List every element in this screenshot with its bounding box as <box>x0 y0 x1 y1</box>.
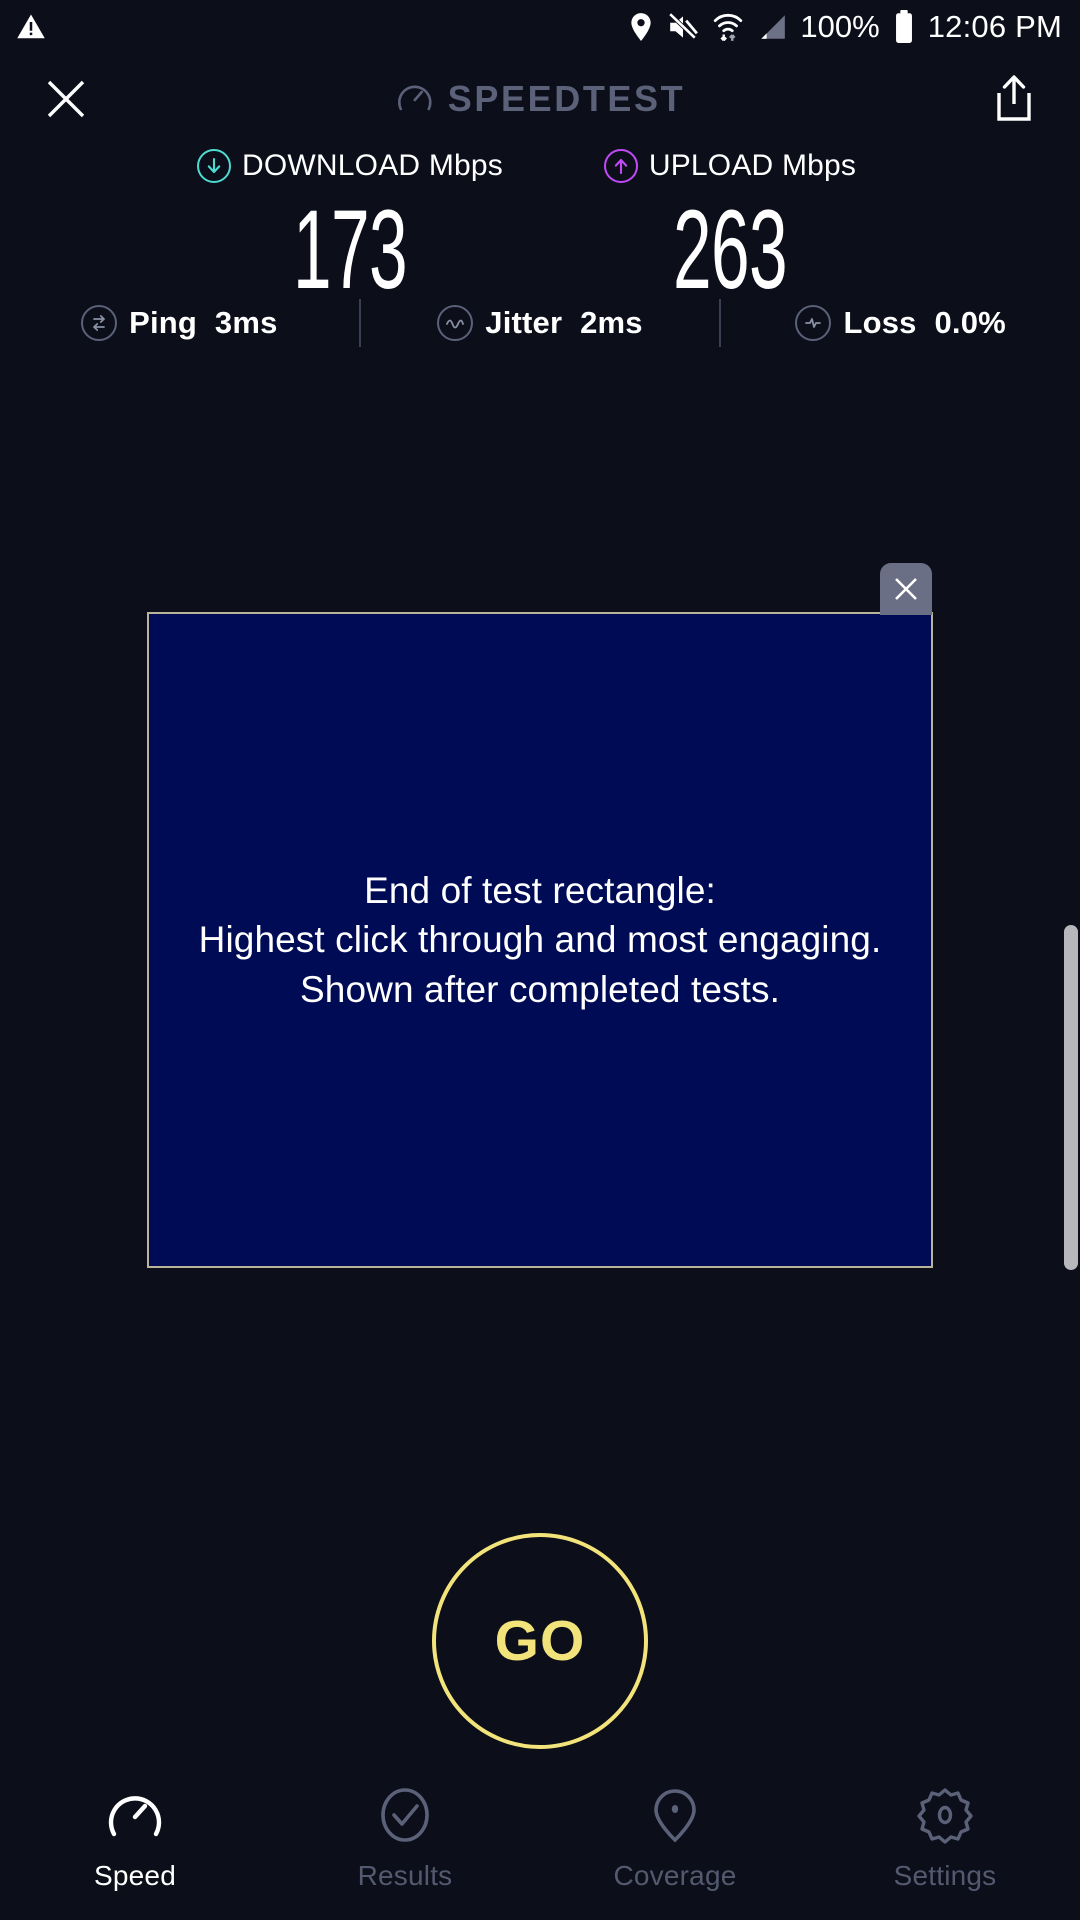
nav-label-coverage: Coverage <box>613 1860 736 1892</box>
download-label: DOWNLOAD Mbps <box>242 149 503 183</box>
jitter-icon <box>437 305 473 341</box>
volume-muted-icon <box>667 12 699 42</box>
stat-jitter: Jitter 2ms <box>361 305 720 341</box>
download-header: DOWNLOAD Mbps <box>160 144 540 188</box>
stat-ping-text: Ping 3ms <box>129 305 277 341</box>
battery-full-icon <box>893 10 915 44</box>
warning-triangle-icon <box>16 12 46 42</box>
loss-icon <box>795 305 831 341</box>
stat-ping-name: Ping <box>129 305 197 340</box>
gear-icon <box>914 1782 976 1848</box>
speedometer-icon <box>395 79 435 119</box>
page-scrollbar[interactable] <box>1064 925 1078 1270</box>
ad-close-button[interactable] <box>880 563 932 615</box>
stat-loss-name: Loss <box>843 305 916 340</box>
cellular-signal-icon <box>757 13 787 41</box>
stat-loss: Loss 0.0% <box>721 305 1080 341</box>
close-button[interactable] <box>36 69 96 129</box>
stat-ping-value: 3ms <box>215 305 278 340</box>
status-bar-right: 100% 12:06 PM <box>628 9 1062 45</box>
status-bar-left <box>16 12 46 42</box>
location-pin-icon <box>644 1782 706 1848</box>
download-upload-row: DOWNLOAD Mbps 173 UPLOAD Mbps <box>0 144 1080 301</box>
app-header: SPEEDTEST <box>0 54 1080 144</box>
speedometer-icon <box>104 1782 166 1848</box>
nav-item-speed[interactable]: Speed <box>0 1782 270 1892</box>
upload-label: UPLOAD Mbps <box>649 149 856 183</box>
share-upload-icon <box>991 74 1037 124</box>
battery-percent-label: 100% <box>800 9 879 45</box>
stat-ping: Ping 3ms <box>0 305 359 341</box>
download-metric: DOWNLOAD Mbps 173 <box>160 144 540 301</box>
close-icon <box>891 574 921 604</box>
arrow-up-circle-icon <box>604 149 638 183</box>
location-pin-icon <box>628 12 654 42</box>
nav-label-results: Results <box>358 1860 453 1892</box>
nav-label-speed: Speed <box>94 1860 176 1892</box>
brand-logo: SPEEDTEST <box>395 78 685 120</box>
upload-kind: UPLOAD <box>649 149 774 182</box>
upload-header: UPLOAD Mbps <box>540 144 920 188</box>
nav-item-settings[interactable]: Settings <box>810 1782 1080 1892</box>
upload-value: 263 <box>612 198 848 301</box>
close-icon <box>42 75 90 123</box>
download-kind: DOWNLOAD <box>242 149 420 182</box>
brand-wordmark: SPEEDTEST <box>448 78 685 120</box>
status-bar-clock: 12:06 PM <box>928 9 1062 45</box>
nav-label-settings: Settings <box>894 1860 997 1892</box>
result-summary: DOWNLOAD Mbps 173 UPLOAD Mbps <box>0 144 1080 301</box>
advertisement-banner[interactable]: End of test rectangle: Highest click thr… <box>147 612 933 1268</box>
ping-icon <box>81 305 117 341</box>
nav-item-results[interactable]: Results <box>270 1782 540 1892</box>
download-unit: Mbps <box>429 149 503 182</box>
upload-metric: UPLOAD Mbps 263 <box>540 144 920 301</box>
bottom-navigation: Speed Results Coverage <box>0 1770 1080 1920</box>
wifi-transfer-icon <box>712 11 744 43</box>
stat-jitter-text: Jitter 2ms <box>485 305 643 341</box>
stat-loss-text: Loss 0.0% <box>843 305 1005 341</box>
stat-jitter-name: Jitter <box>485 305 562 340</box>
arrow-down-circle-icon <box>197 149 231 183</box>
stat-loss-value: 0.0% <box>934 305 1005 340</box>
ad-text: End of test rectangle: Highest click thr… <box>189 866 892 1014</box>
go-button[interactable]: GO <box>432 1533 648 1749</box>
speedtest-app-screen: 100% 12:06 PM SPEEDTEST <box>0 0 1080 1920</box>
check-circle-icon <box>374 1782 436 1848</box>
nav-item-coverage[interactable]: Coverage <box>540 1782 810 1892</box>
go-button-label: GO <box>495 1608 586 1674</box>
status-bar: 100% 12:06 PM <box>0 0 1080 54</box>
stat-jitter-value: 2ms <box>580 305 643 340</box>
share-button[interactable] <box>984 69 1044 129</box>
upload-unit: Mbps <box>782 149 856 182</box>
download-value: 173 <box>232 198 468 301</box>
connection-stats-row: Ping 3ms Jitter 2ms <box>0 288 1080 358</box>
